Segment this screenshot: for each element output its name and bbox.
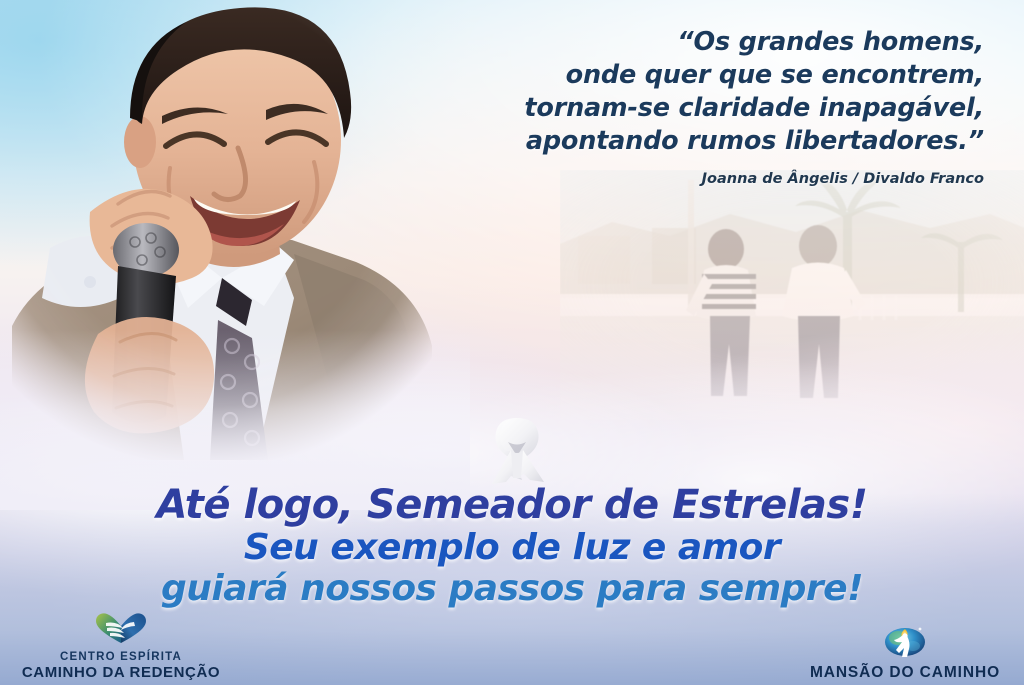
headline-line-3: guiará nossos passos para sempre!: [0, 568, 1024, 609]
logo-mansao-do-caminho: MANSÃO DO CAMINHO: [790, 623, 1020, 681]
logo-left-line-1: CENTRO ESPÍRITA: [6, 651, 236, 664]
quote-block: “Os grandes homens, onde quer que se enc…: [424, 26, 984, 187]
mourning-ribbon-icon: [478, 406, 556, 488]
logo-centro-espirita: CENTRO ESPÍRITA CAMINHO DA REDENÇÃO: [6, 612, 236, 681]
headline-block: Até logo, Semeador de Estrelas! Seu exem…: [0, 484, 1024, 609]
quote-line-2: onde quer que se encontrem,: [424, 59, 984, 92]
headline-line-1: Até logo, Semeador de Estrelas!: [0, 484, 1024, 527]
hands-heart-icon: [6, 612, 236, 649]
memorial-poster: “Os grandes homens, onde quer que se enc…: [0, 0, 1024, 685]
logo-right-line-1: MANSÃO DO CAMINHO: [790, 664, 1020, 681]
quote-line-3: tornam-se claridade inapagável,: [424, 92, 984, 125]
globe-figure-torch-icon: [790, 623, 1020, 662]
headline-line-2: Seu exemplo de luz e amor: [0, 527, 1024, 568]
quote-line-1: “Os grandes homens,: [424, 26, 984, 59]
logo-left-line-2: CAMINHO DA REDENÇÃO: [6, 664, 236, 681]
quote-line-4: apontando rumos libertadores.”: [424, 125, 984, 158]
quote-attribution: Joanna de Ângelis / Divaldo Franco: [424, 171, 984, 187]
